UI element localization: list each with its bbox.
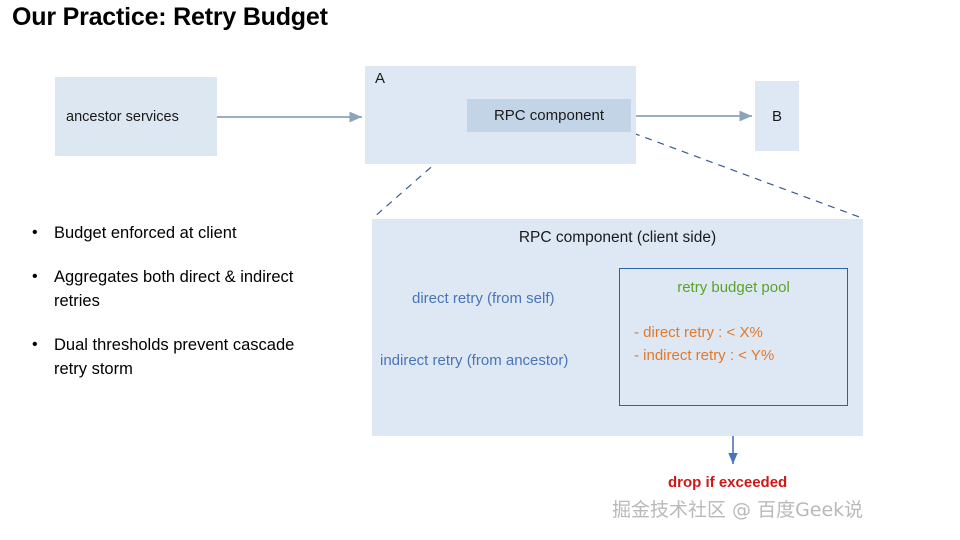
- service-b-box[interactable]: B: [755, 81, 799, 151]
- bullet-text: Budget enforced at client: [54, 224, 237, 242]
- rpc-component-label: RPC component: [494, 107, 604, 124]
- bullet-marker-icon: •: [32, 266, 38, 289]
- bullet-marker-icon: •: [32, 334, 38, 357]
- bullet-text: Dual thresholds prevent cascade retry st…: [54, 336, 294, 377]
- watermark: 掘金技术社区 @ 百度Geek说: [612, 495, 863, 522]
- page-title: Our Practice: Retry Budget: [12, 3, 328, 32]
- threshold-indirect: - indirect retry : < Y%: [634, 345, 774, 368]
- list-item: • Budget enforced at client: [28, 222, 328, 245]
- list-item: • Aggregates both direct & indirect retr…: [28, 266, 328, 313]
- callout-dashed-right: [633, 133, 862, 218]
- threshold-direct: - direct retry : < X%: [634, 322, 774, 345]
- service-b-label: B: [772, 108, 782, 125]
- rpc-component-box[interactable]: RPC component: [467, 99, 631, 132]
- bullet-text: Aggregates both direct & indirect retrie…: [54, 268, 293, 309]
- ancestor-services-box[interactable]: ancestor services: [55, 77, 217, 156]
- list-item: • Dual thresholds prevent cascade retry …: [28, 334, 328, 381]
- retry-budget-pool-thresholds: - direct retry : < X% - indirect retry :…: [634, 322, 774, 368]
- slide-canvas: Our Practice: Retry Budget ancestor serv…: [0, 0, 960, 540]
- retry-budget-pool-title: retry budget pool: [620, 279, 847, 296]
- bullet-marker-icon: •: [32, 222, 38, 245]
- direct-retry-label: direct retry (from self): [412, 290, 555, 307]
- bullet-list: • Budget enforced at client • Aggregates…: [28, 222, 328, 381]
- retry-budget-pool-box[interactable]: retry budget pool - direct retry : < X% …: [619, 268, 848, 406]
- drop-if-exceeded-label: drop if exceeded: [668, 474, 787, 491]
- rpc-client-side-title: RPC component (client side): [372, 229, 863, 247]
- indirect-retry-label: indirect retry (from ancestor): [380, 352, 568, 369]
- ancestor-services-label: ancestor services: [66, 109, 179, 125]
- service-a-label: A: [375, 70, 385, 87]
